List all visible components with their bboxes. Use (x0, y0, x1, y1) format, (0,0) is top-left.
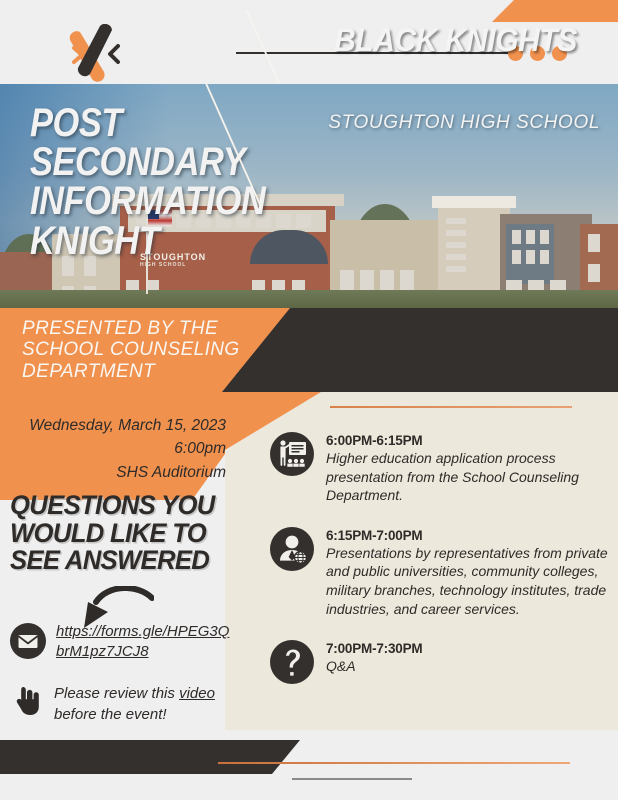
video-note: Please review this video before the even… (54, 684, 242, 725)
schedule-item-time: 7:00PM-7:30PM (326, 641, 612, 656)
video-note-after: before the event! (54, 706, 167, 723)
title-line-2: INFORMATION (30, 182, 322, 221)
event-details: Wednesday, March 15, 2023 6:00pm SHS Aud… (0, 414, 226, 484)
sign-line-2: HIGH SCHOOL (140, 262, 232, 268)
event-time: 6:00pm (0, 437, 226, 460)
video-note-before: Please review this (54, 685, 179, 702)
schedule-item-body: 7:00PM-7:30PM Q&A (326, 640, 612, 684)
presented-by-text: PRESENTED BY THE SCHOOL COUNSELING DEPAR… (22, 318, 252, 382)
pointing-hand-icon (10, 684, 44, 718)
schedule-item-time: 6:00PM-6:15PM (326, 433, 612, 448)
schedule-item-time: 6:15PM-7:00PM (326, 528, 612, 543)
schedule-panel-rule (330, 406, 572, 408)
title-line-1: POST SECONDARY (30, 104, 322, 182)
footer-gray-rule (292, 778, 412, 780)
schedule-list: 6:00PM-6:15PM Higher education applicati… (270, 432, 610, 706)
form-url-link[interactable]: https://forms.gle/HPEG3QbrM1pz7JCJ8 (56, 622, 236, 663)
schedule-item-body: 6:00PM-6:15PM Higher education applicati… (326, 432, 612, 505)
title-line-3: KNIGHT (30, 222, 322, 261)
event-location: SHS Auditorium (0, 461, 226, 484)
schedule-item-description: Presentations by representatives from pr… (326, 544, 612, 618)
hero-banner: STOUGHTON HIGH SCHOOL POST SECONDARY INF… (0, 84, 618, 316)
schedule-item-description: Q&A (326, 657, 612, 676)
list-item: 7:00PM-7:30PM Q&A (270, 640, 610, 684)
schedule-item-description: Higher education application process pre… (326, 449, 612, 505)
school-name: STOUGHTON HIGH SCHOOL (328, 112, 600, 134)
top-orange-accent-shape (470, 0, 618, 22)
footer-dark-bar (0, 740, 300, 774)
flyer-canvas: STOUGHTON HIGH SCHOOL POST SECONDARY INF… (0, 0, 618, 800)
schedule-item-body: 6:15PM-7:00PM Presentations by represent… (326, 527, 612, 618)
footer-orange-rule (218, 762, 570, 764)
team-name: BLACK KNIGHTS (334, 22, 577, 59)
questions-heading: QUESTIONS YOU WOULD LIKE TO SEE ANSWERED (10, 492, 229, 575)
envelope-icon (10, 623, 46, 659)
abstract-x-logo (60, 24, 130, 84)
person-globe-icon (270, 527, 314, 571)
question-mark-icon (270, 640, 314, 684)
list-item: 6:00PM-6:15PM Higher education applicati… (270, 432, 610, 505)
event-date: Wednesday, March 15, 2023 (0, 414, 226, 437)
page-title: POST SECONDARY INFORMATION KNIGHT (30, 104, 322, 261)
presenter-whiteboard-icon (270, 432, 314, 476)
list-item: 6:15PM-7:00PM Presentations by represent… (270, 527, 610, 618)
video-link[interactable]: video (179, 685, 215, 702)
